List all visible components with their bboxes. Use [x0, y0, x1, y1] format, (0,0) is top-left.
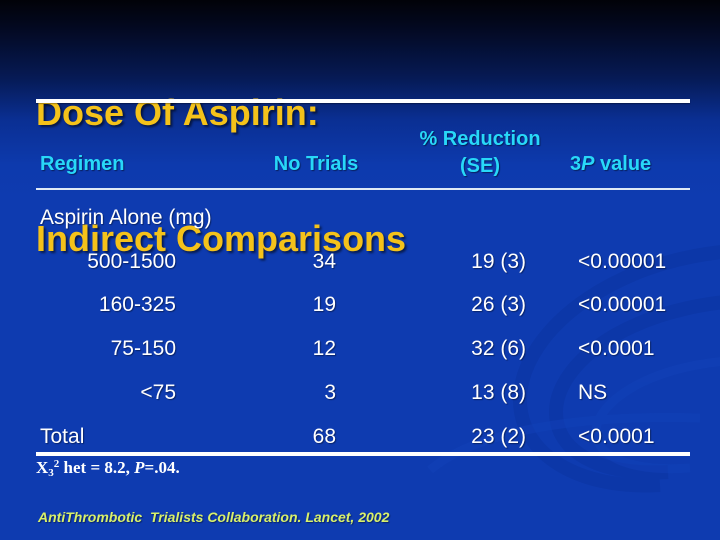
title-divider	[36, 99, 690, 103]
column-header-no-trials: No Trials	[236, 153, 396, 176]
table-row: 75-150	[40, 337, 176, 361]
cell-p-value: <0.0001	[578, 425, 718, 449]
footnote-tail: =.04.	[145, 458, 180, 477]
header-divider	[36, 188, 690, 190]
cell-reduction: 19 (3)	[418, 250, 526, 274]
cell-reduction: 13 (8)	[418, 381, 526, 405]
slide-content: Dose Of Aspirin: Indirect Comparisons Re…	[0, 0, 720, 540]
cell-no-trials: 3	[236, 381, 336, 405]
p-value-header-suffix: value	[594, 153, 651, 175]
slide: Dose Of Aspirin: Indirect Comparisons Re…	[0, 0, 720, 540]
cell-reduction: 26 (3)	[418, 293, 526, 317]
cell-p-value: <0.0001	[578, 337, 718, 361]
cell-p-value: <0.00001	[578, 293, 718, 317]
cell-no-trials: 34	[236, 250, 336, 274]
table-group-label: Aspirin Alone (mg)	[40, 206, 270, 230]
column-header-regimen: Regimen	[40, 153, 124, 176]
column-header-reduction-line1: % Reduction	[400, 126, 560, 153]
cell-reduction: 23 (2)	[418, 425, 526, 449]
cell-reduction: 32 (6)	[418, 337, 526, 361]
table-row: 160-325	[40, 293, 176, 317]
p-value-header-prefix: 3	[570, 153, 581, 175]
footnote-statistic: X32 het = 8.2, P=.04.	[36, 458, 180, 479]
table-row: <75	[40, 381, 176, 405]
footnote-italic-p: P	[134, 458, 144, 477]
column-header-reduction: % Reduction (SE)	[400, 126, 560, 180]
footnote-text: het = 8.2,	[59, 458, 134, 477]
cell-p-value: <0.00001	[578, 250, 718, 274]
p-value-header-italic-p: P	[581, 153, 594, 175]
cell-no-trials: 68	[236, 425, 336, 449]
source-citation: AntiThrombotic Trialists Collaboration. …	[38, 509, 389, 525]
column-header-reduction-line2: (SE)	[400, 153, 560, 180]
table-row: 500-1500	[40, 250, 176, 274]
footnote-symbol: X	[36, 458, 48, 477]
cell-no-trials: 19	[236, 293, 336, 317]
footer-divider	[36, 452, 690, 456]
cell-no-trials: 12	[236, 337, 336, 361]
cell-p-value: NS	[578, 381, 718, 405]
column-header-p-value: 3P value	[570, 153, 710, 176]
